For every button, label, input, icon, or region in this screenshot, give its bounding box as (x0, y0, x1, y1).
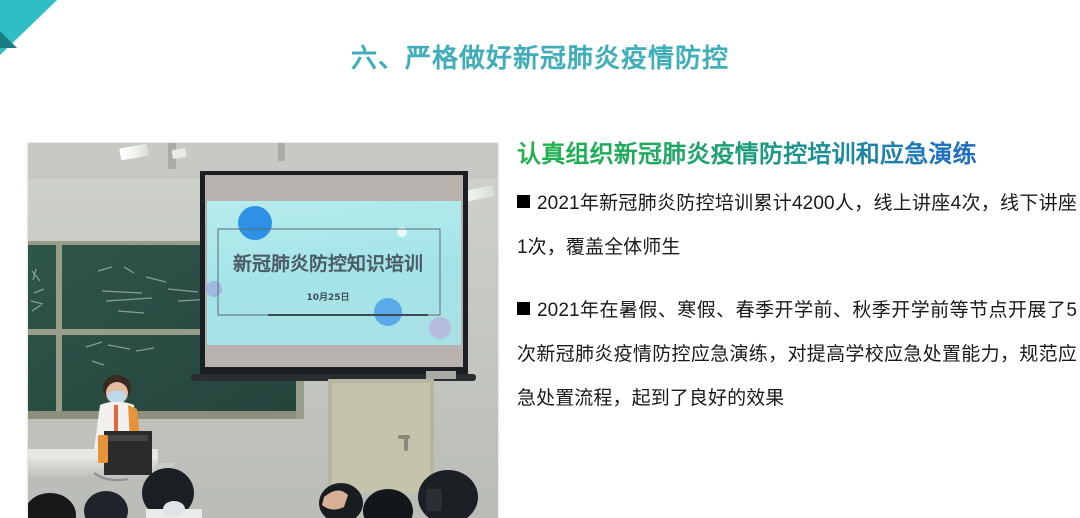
thermos (98, 435, 108, 463)
classroom-door (328, 379, 434, 493)
slide-dot (238, 206, 272, 240)
projection-screen: 新冠肺炎防控知识培训 10月25日 (191, 171, 476, 381)
training-session-photo: 新冠肺炎防控知识培训 10月25日 (28, 143, 498, 518)
bullet-item: 2021年在暑假、寒假、春季开学前、秋季开学前等节点开展了5次新冠肺炎疫情防控应… (517, 289, 1077, 421)
projected-slide-date: 10月25日 (306, 292, 349, 303)
bullet-square-icon (517, 302, 530, 315)
face-mask (108, 391, 126, 402)
projected-slide-title: 新冠肺炎防控知识培训 (233, 252, 423, 275)
bullet-text: 2021年新冠肺炎防控培训累计4200人，线上讲座4次，线下讲座1次，覆盖全体师… (517, 193, 1077, 258)
content-column: 认真组织新冠肺炎疫情防控培训和应急演练 2021年新冠肺炎防控培训累计4200人… (517, 138, 1077, 440)
page-title: 六、严格做好新冠肺炎疫情防控 (0, 38, 1080, 75)
bullet-square-icon (517, 195, 530, 208)
bullet-text: 2021年在暑假、寒假、春季开学前、秋季开学前等节点开展了5次新冠肺炎疫情防控应… (517, 300, 1077, 409)
slide-dot (374, 298, 402, 326)
section-heading: 认真组织新冠肺炎疫情防控培训和应急演练 (517, 138, 1077, 172)
bullet-item: 2021年新冠肺炎防控培训累计4200人，线上讲座4次，线下讲座1次，覆盖全体师… (517, 182, 1077, 270)
